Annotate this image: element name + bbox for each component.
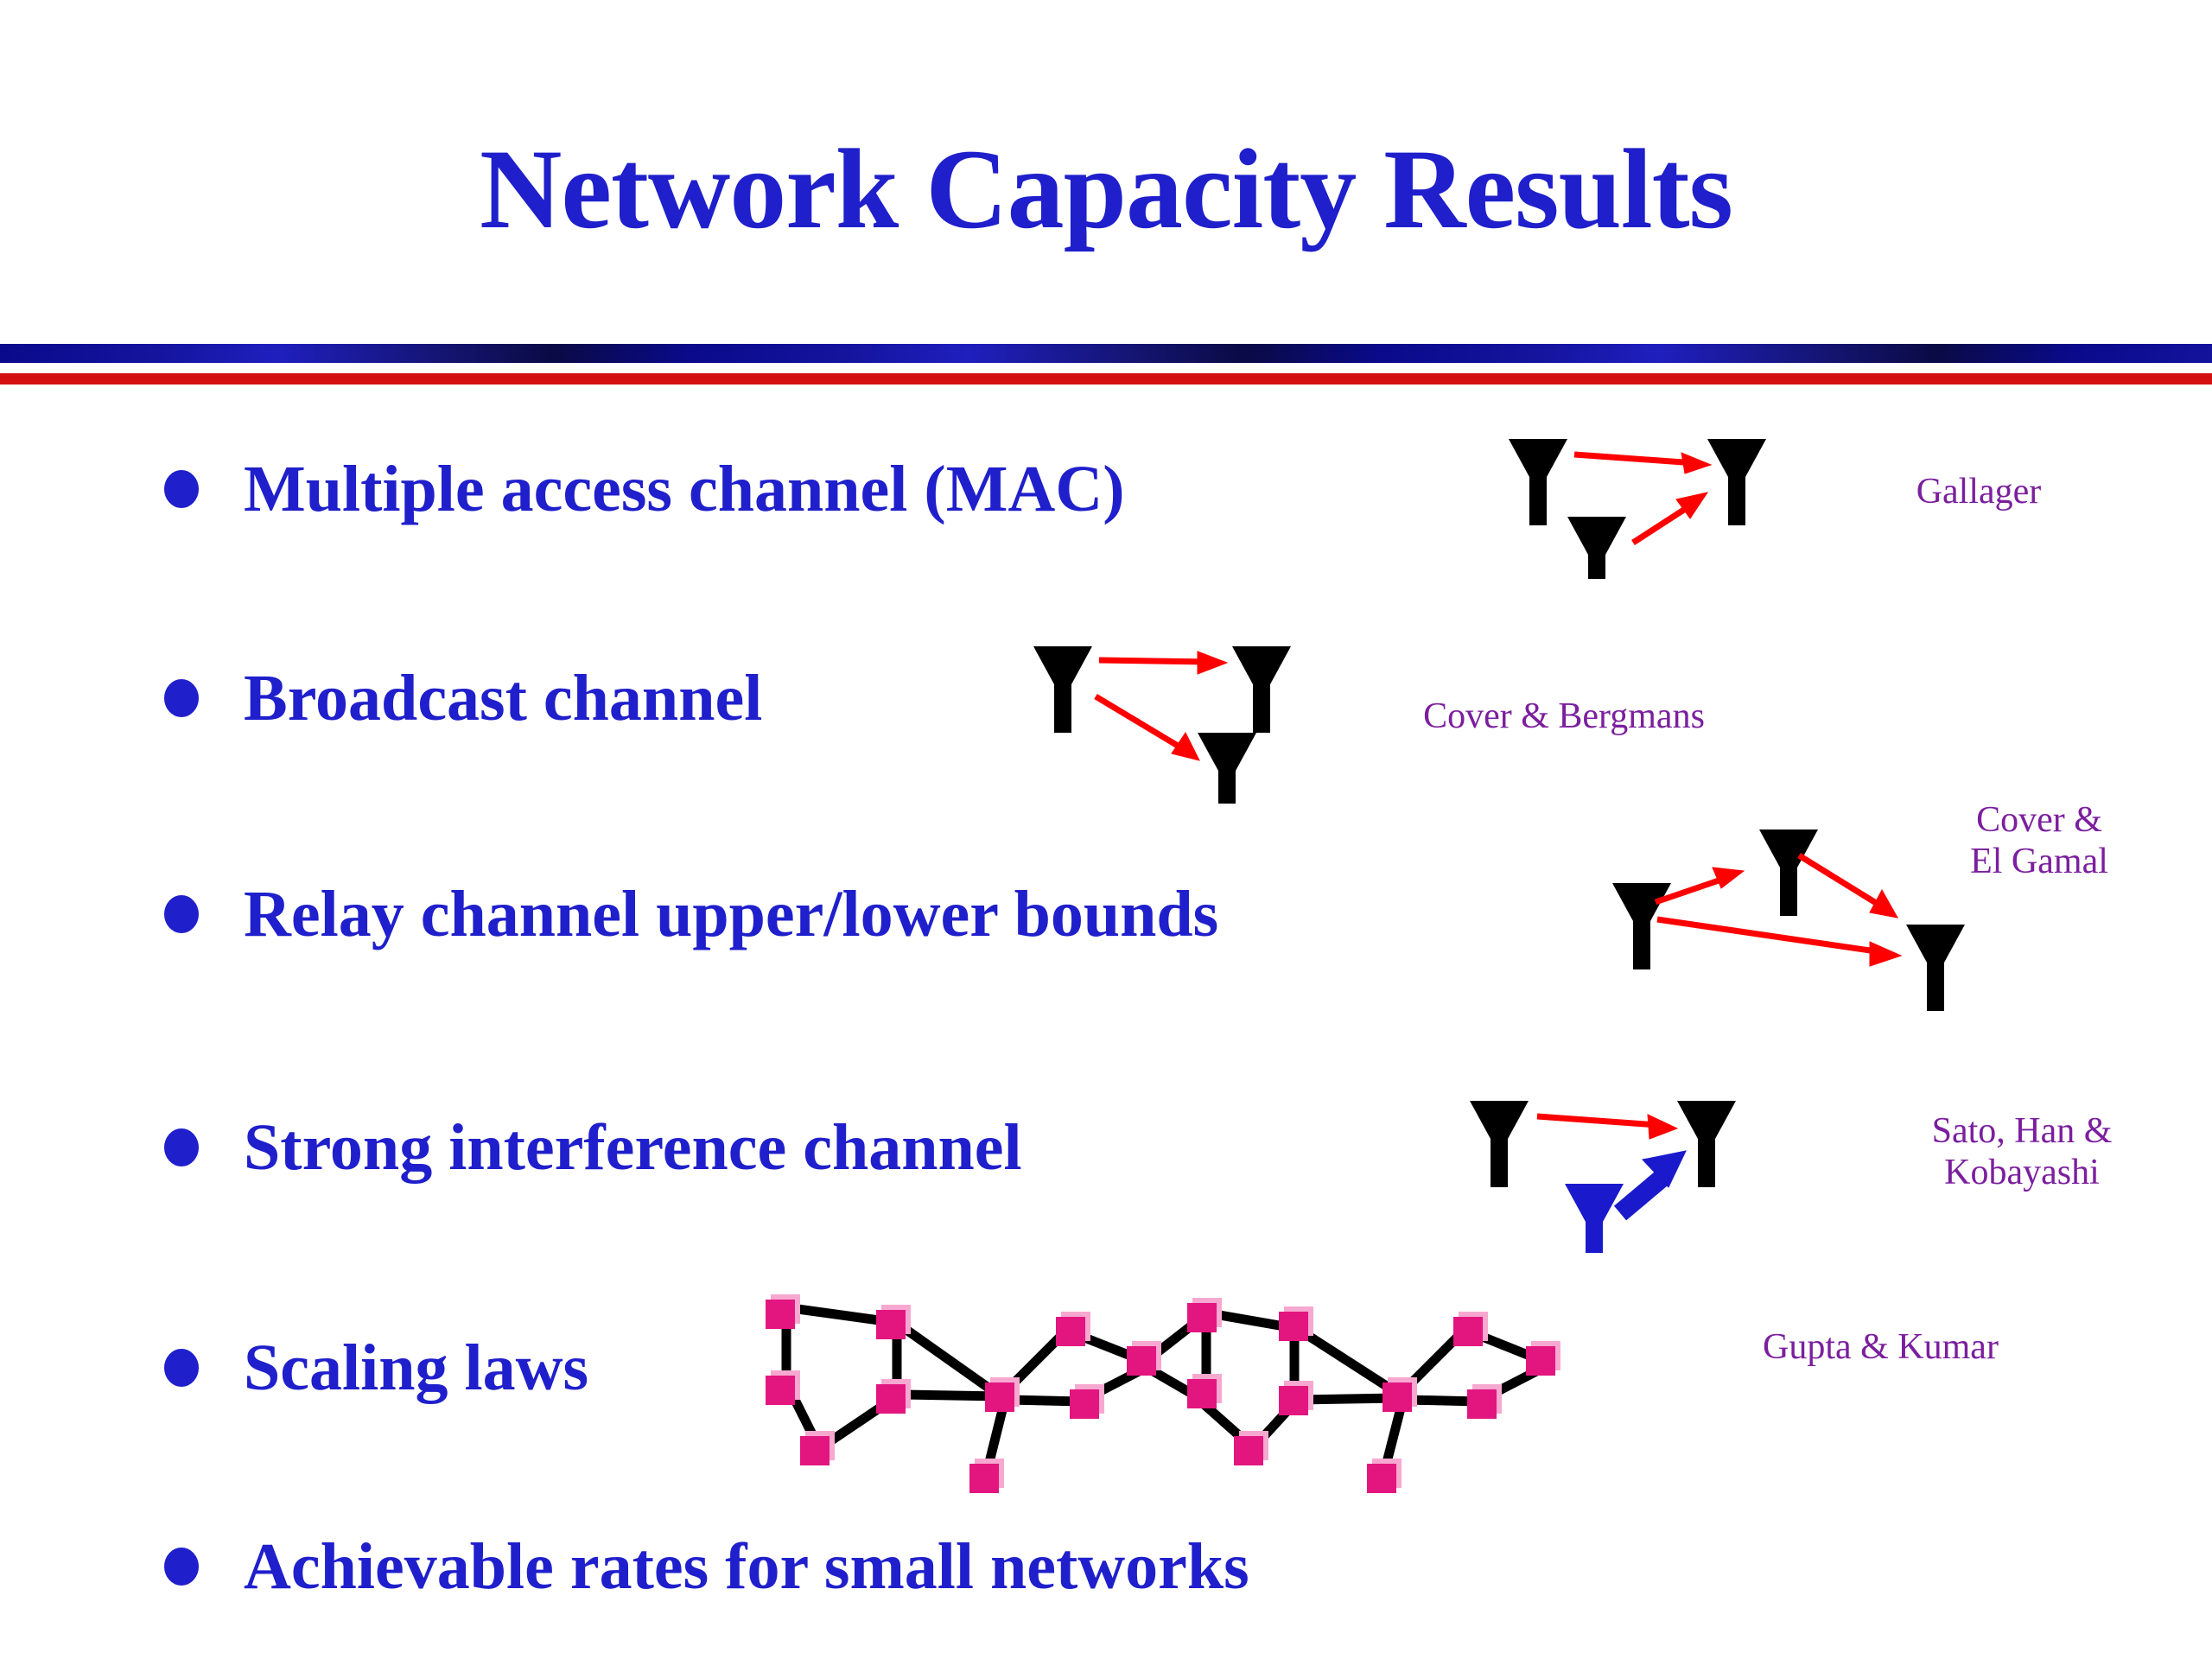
- credit-label-cover-elgamal: Cover & El Gamal: [1910, 799, 2169, 883]
- network-node: [876, 1305, 911, 1339]
- antenna-icon: [1567, 517, 1626, 579]
- bullet-item-strong-interference-channel: Strong interference channel: [164, 1115, 1022, 1180]
- signal-arrow-icon: [1096, 696, 1199, 760]
- bullet-label: Relay channel upper/lower bounds: [244, 881, 1218, 947]
- signal-arrow-icon: [1574, 453, 1711, 474]
- antenna-icon: [1707, 439, 1766, 525]
- strong-interference-channel-diagram: [1465, 1097, 1827, 1253]
- antenna-icon: [1509, 439, 1567, 525]
- bullet-dot-icon: [164, 679, 199, 717]
- antenna-icon: [1033, 646, 1092, 733]
- network-node: [1127, 1341, 1161, 1376]
- network-node: [1382, 1377, 1417, 1412]
- bullet-dot-icon: [164, 895, 199, 933]
- credit-label-sato-han-kobayashi: Sato, Han & Kobayashi: [1875, 1110, 2169, 1194]
- network-node: [1056, 1312, 1090, 1346]
- credit-label-gallager: Gallager: [1866, 471, 2091, 512]
- bullet-item-multiple-access-channel: Multiple access channel (MAC): [164, 456, 1125, 522]
- page-title: Network Capacity Results: [0, 130, 2212, 250]
- bullet-label: Achievable rates for small networks: [244, 1534, 1249, 1599]
- signal-arrow-icon: [1099, 652, 1227, 674]
- bullet-label: Broadcast channel: [244, 665, 762, 731]
- network-node: [1070, 1384, 1104, 1419]
- credit-label-cover-bergmans: Cover & Bergmans: [1348, 696, 1780, 737]
- network-node: [1279, 1381, 1313, 1415]
- divider-red-bar: [0, 373, 2212, 385]
- network-node: [1526, 1341, 1560, 1376]
- network-node: [766, 1294, 800, 1329]
- bullet-dot-icon: [164, 1349, 199, 1387]
- bullet-label: Multiple access channel (MAC): [244, 456, 1125, 522]
- network-node: [969, 1459, 1004, 1493]
- network-nodes: [766, 1294, 1560, 1493]
- network-node: [1187, 1374, 1222, 1408]
- antenna-icon: [1612, 883, 1671, 969]
- slide: Network Capacity Results Multiple access…: [0, 0, 2212, 1659]
- network-node: [1187, 1298, 1222, 1332]
- network-node: [1234, 1431, 1268, 1465]
- bullet-dot-icon: [164, 1128, 199, 1166]
- bullet-dot-icon: [164, 470, 199, 508]
- antenna-icon: [1198, 733, 1256, 804]
- network-node: [985, 1377, 1020, 1412]
- scaling-laws-network-graph: [760, 1287, 1763, 1512]
- bullet-item-achievable-rates: Achievable rates for small networks: [164, 1534, 1249, 1599]
- signal-arrow-icon: [1537, 1115, 1677, 1139]
- signal-arrow-icon: [1633, 493, 1707, 543]
- bullet-item-scaling-laws: Scaling laws: [164, 1335, 588, 1401]
- network-node: [1453, 1312, 1488, 1346]
- bullet-item-broadcast-channel: Broadcast channel: [164, 665, 762, 731]
- bullet-label: Strong interference channel: [244, 1115, 1022, 1180]
- divider-navy-bar: [0, 344, 2212, 363]
- antenna-icon: [1759, 829, 1818, 916]
- signal-arrow-icon: [1657, 919, 1901, 966]
- credit-label-gupta-kumar: Gupta & Kumar: [1763, 1326, 2126, 1368]
- network-node: [766, 1370, 800, 1405]
- antenna-icon: [1232, 646, 1291, 733]
- network-node: [1279, 1306, 1313, 1341]
- bullet-dot-icon: [164, 1548, 199, 1586]
- network-node: [876, 1379, 911, 1414]
- network-node: [800, 1431, 835, 1465]
- broadcast-channel-diagram: [1028, 639, 1322, 804]
- antenna-icon: [1677, 1101, 1736, 1187]
- interference-arrow-icon: [1620, 1151, 1686, 1213]
- bullet-item-relay-channel: Relay channel upper/lower bounds: [164, 881, 1218, 947]
- network-node: [1367, 1459, 1402, 1493]
- network-node: [1467, 1384, 1502, 1419]
- antenna-icon: [1906, 925, 1965, 1011]
- bullet-label: Scaling laws: [244, 1335, 588, 1401]
- antenna-icon: [1565, 1184, 1624, 1253]
- multiple-access-channel-diagram: [1503, 432, 1815, 579]
- antenna-icon: [1470, 1101, 1529, 1187]
- signal-arrow-icon: [1799, 855, 1897, 918]
